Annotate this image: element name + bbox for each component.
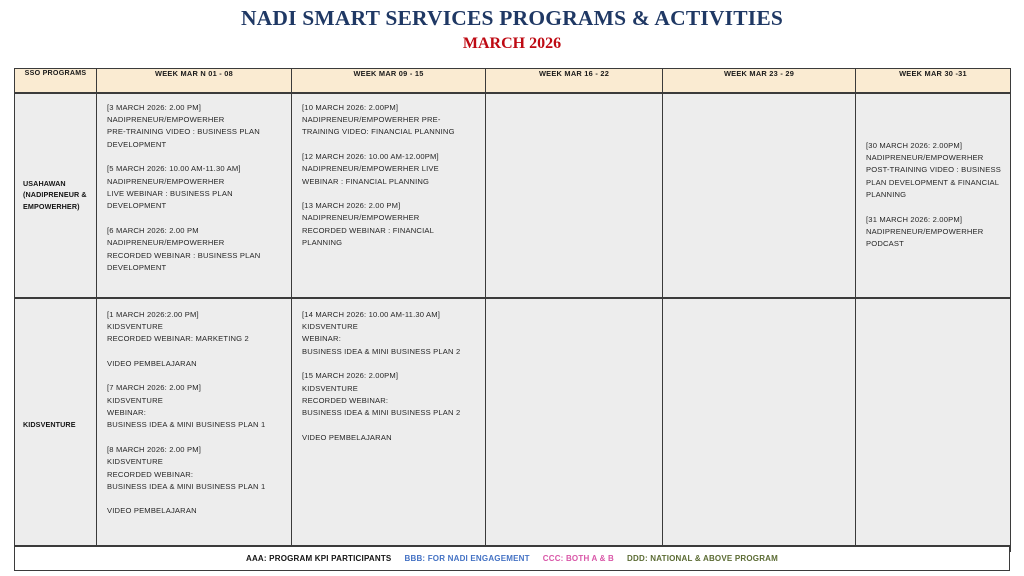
activity-line: WEBINAR : FINANCIAL PLANNING (302, 176, 476, 188)
page-title: NADI SMART SERVICES PROGRAMS & ACTIVITIE… (0, 4, 1024, 32)
activity-line: KIDSVENTURE (107, 321, 282, 333)
activity-line: NADIPRENEUR/EMPOWERHER (866, 226, 1001, 238)
row-label-line: (NADIPRENEUR & (23, 189, 90, 201)
schedule-cell-r1-c1: [3 MARCH 2026: 2.00 PM]NADIPRENEUR/EMPOW… (97, 93, 292, 298)
activity-entry: [10 MARCH 2026: 2.00PM]NADIPRENEUR/EMPOW… (302, 102, 476, 139)
activity-line: KIDSVENTURE (302, 321, 476, 333)
activity-entry: [15 MARCH 2026: 2.00PM]KIDSVENTURERECORD… (302, 370, 476, 420)
cell-content: [14 MARCH 2026: 10.00 AM-11.30 AM]KIDSVE… (292, 299, 485, 453)
activity-line: RECORDED WEBINAR: (302, 395, 476, 407)
activity-line: [13 MARCH 2026: 2.00 PM] (302, 200, 476, 212)
schedule-cell-r1-c5: [30 MARCH 2026: 2.00PM]NADIPRENEUR/EMPOW… (856, 93, 1011, 298)
activity-line: [14 MARCH 2026: 10.00 AM-11.30 AM] (302, 309, 476, 321)
calendar-page: NADI SMART SERVICES PROGRAMS & ACTIVITIE… (0, 0, 1024, 576)
cell-content: [10 MARCH 2026: 2.00PM]NADIPRENEUR/EMPOW… (292, 94, 485, 258)
cell-content (663, 299, 855, 317)
activity-line: [5 MARCH 2026: 10.00 AM-11.30 AM] (107, 163, 282, 175)
activity-line: BUSINESS IDEA & MINI BUSINESS PLAN 2 (302, 407, 476, 419)
activity-line: DEVELOPMENT (107, 200, 282, 212)
activity-line: NADIPRENEUR/EMPOWERHER (107, 176, 282, 188)
cell-content: [1 MARCH 2026:2.00 PM]KIDSVENTURERECORDE… (97, 299, 291, 526)
legend-item-bbb: BBB: FOR NADI ENGAGEMENT (404, 554, 529, 563)
cell-content: [30 MARCH 2026: 2.00PM]NADIPRENEUR/EMPOW… (856, 94, 1010, 259)
activity-entry: VIDEO PEMBELAJARAN (107, 505, 282, 517)
legend-footer: AAA: PROGRAM KPI PARTICIPANTSBBB: FOR NA… (14, 545, 1010, 571)
schedule-cell-r2-c1: [1 MARCH 2026:2.00 PM]KIDSVENTURERECORDE… (97, 298, 292, 552)
schedule-cell-r2-c5 (856, 298, 1011, 552)
activity-line: PLANNING (866, 189, 1001, 201)
schedule-cell-r1-c2: [10 MARCH 2026: 2.00PM]NADIPRENEUR/EMPOW… (292, 93, 486, 298)
cell-content (486, 299, 662, 317)
activity-line: VIDEO PEMBELAJARAN (107, 505, 282, 517)
activity-entry: [31 MARCH 2026: 2.00PM]NADIPRENEUR/EMPOW… (866, 214, 1001, 251)
column-header-week-2: WEEK MAR 09 - 15 (292, 69, 486, 93)
column-header-week-3: WEEK MAR 16 - 22 (486, 69, 663, 93)
row-label-line: USAHAWAN (23, 178, 90, 190)
activity-line: TRAINING VIDEO: FINANCIAL PLANNING (302, 126, 476, 138)
schedule-cell-r1-c4 (663, 93, 856, 298)
activity-line: DEVELOPMENT (107, 139, 282, 151)
activity-line: BUSINESS IDEA & MINI BUSINESS PLAN 1 (107, 481, 282, 493)
activity-line: [3 MARCH 2026: 2.00 PM] (107, 102, 282, 114)
table-header: SSO PROGRAMS WEEK MAR N 01 - 08 WEEK MAR… (15, 69, 1011, 93)
schedule-cell-r2-c3 (486, 298, 663, 552)
row-label-line: KIDSVENTURE (23, 419, 90, 431)
table-row: KIDSVENTURE[1 MARCH 2026:2.00 PM]KIDSVEN… (15, 298, 1011, 552)
activity-entry: VIDEO PEMBELAJARAN (302, 432, 476, 444)
activity-entry: [5 MARCH 2026: 10.00 AM-11.30 AM]NADIPRE… (107, 163, 282, 213)
activity-line: POST-TRAINING VIDEO : BUSINESS (866, 164, 1001, 176)
legend-item-ccc: CCC: BOTH A & B (543, 554, 614, 563)
programs-schedule-table: SSO PROGRAMS WEEK MAR N 01 - 08 WEEK MAR… (14, 68, 1011, 552)
activity-line: [31 MARCH 2026: 2.00PM] (866, 214, 1001, 226)
activity-entry: [7 MARCH 2026: 2.00 PM]KIDSVENTUREWEBINA… (107, 382, 282, 432)
column-header-week-4: WEEK MAR 23 - 29 (663, 69, 856, 93)
activity-entry: [30 MARCH 2026: 2.00PM]NADIPRENEUR/EMPOW… (866, 140, 1001, 202)
activity-line: RECORDED WEBINAR: (107, 469, 282, 481)
activity-entry: [13 MARCH 2026: 2.00 PM]NADIPRENEUR/EMPO… (302, 200, 476, 250)
activity-entry: [14 MARCH 2026: 10.00 AM-11.30 AM]KIDSVE… (302, 309, 476, 359)
cell-content (856, 299, 1010, 317)
activity-entry: [6 MARCH 2026: 2.00 PMNADIPRENEUR/EMPOWE… (107, 225, 282, 275)
activity-line: PRE-TRAINING VIDEO : BUSINESS PLAN (107, 126, 282, 138)
page-subtitle: MARCH 2026 (0, 33, 1024, 55)
activity-line: WEBINAR: (302, 333, 476, 345)
activity-entry: VIDEO PEMBELAJARAN (107, 358, 282, 370)
activity-entry: [3 MARCH 2026: 2.00 PM]NADIPRENEUR/EMPOW… (107, 102, 282, 152)
activity-line: [10 MARCH 2026: 2.00PM] (302, 102, 476, 114)
activity-line: [7 MARCH 2026: 2.00 PM] (107, 382, 282, 394)
activity-line: RECORDED WEBINAR : FINANCIAL (302, 225, 476, 237)
cell-content (486, 94, 662, 110)
activity-line: LIVE WEBINAR : BUSINESS PLAN (107, 188, 282, 200)
column-header-week-1: WEEK MAR N 01 - 08 (97, 69, 292, 93)
row-label-line: EMPOWERHER) (23, 201, 90, 213)
activity-line: DEVELOPMENT (107, 262, 282, 274)
activity-line: PLAN DEVELOPMENT & FINANCIAL (866, 177, 1001, 189)
activity-line: KIDSVENTURE (302, 383, 476, 395)
activity-line: VIDEO PEMBELAJARAN (107, 358, 282, 370)
cell-content: [3 MARCH 2026: 2.00 PM]NADIPRENEUR/EMPOW… (97, 94, 291, 283)
activity-entry: [12 MARCH 2026: 10.00 AM-12.00PM]NADIPRE… (302, 151, 476, 188)
schedule-cell-r2-c2: [14 MARCH 2026: 10.00 AM-11.30 AM]KIDSVE… (292, 298, 486, 552)
activity-line: [6 MARCH 2026: 2.00 PM (107, 225, 282, 237)
legend-item-aaa: AAA: PROGRAM KPI PARTICIPANTS (246, 554, 392, 563)
activity-line: NADIPRENEUR/EMPOWERHER (302, 212, 476, 224)
activity-line: BUSINESS IDEA & MINI BUSINESS PLAN 2 (302, 346, 476, 358)
activity-line: [8 MARCH 2026: 2.00 PM] (107, 444, 282, 456)
title-block: NADI SMART SERVICES PROGRAMS & ACTIVITIE… (0, 4, 1024, 55)
row-label-1: USAHAWAN(NADIPRENEUR &EMPOWERHER) (15, 93, 97, 298)
schedule-cell-r1-c3 (486, 93, 663, 298)
activity-entry: [1 MARCH 2026:2.00 PM]KIDSVENTURERECORDE… (107, 309, 282, 346)
row-label-2: KIDSVENTURE (15, 298, 97, 552)
activity-line: WEBINAR: (107, 407, 282, 419)
activity-line: BUSINESS IDEA & MINI BUSINESS PLAN 1 (107, 419, 282, 431)
column-header-sso-programs: SSO PROGRAMS (15, 69, 97, 93)
activity-entry: [8 MARCH 2026: 2.00 PM]KIDSVENTURERECORD… (107, 444, 282, 494)
activity-line: [1 MARCH 2026:2.00 PM] (107, 309, 282, 321)
activity-line: KIDSVENTURE (107, 395, 282, 407)
activity-line: PLANNING (302, 237, 476, 249)
activity-line: NADIPRENEUR/EMPOWERHER (107, 237, 282, 249)
table-row: USAHAWAN(NADIPRENEUR &EMPOWERHER)[3 MARC… (15, 93, 1011, 298)
table-body: USAHAWAN(NADIPRENEUR &EMPOWERHER)[3 MARC… (15, 93, 1011, 552)
cell-content (663, 94, 855, 110)
activity-line: RECORDED WEBINAR: MARKETING 2 (107, 333, 282, 345)
legend-text: AAA: PROGRAM KPI PARTICIPANTSBBB: FOR NA… (246, 554, 778, 563)
schedule-cell-r2-c4 (663, 298, 856, 552)
activity-line: NADIPRENEUR/EMPOWERHER LIVE (302, 163, 476, 175)
activity-line: PODCAST (866, 238, 1001, 250)
activity-line: RECORDED WEBINAR : BUSINESS PLAN (107, 250, 282, 262)
activity-line: [12 MARCH 2026: 10.00 AM-12.00PM] (302, 151, 476, 163)
activity-line: VIDEO PEMBELAJARAN (302, 432, 476, 444)
activity-line: [15 MARCH 2026: 2.00PM] (302, 370, 476, 382)
activity-line: NADIPRENEUR/EMPOWERHER (107, 114, 282, 126)
activity-line: NADIPRENEUR/EMPOWERHER PRE- (302, 114, 476, 126)
legend-item-ddd: DDD: NATIONAL & ABOVE PROGRAM (627, 554, 778, 563)
activity-line: [30 MARCH 2026: 2.00PM] (866, 140, 1001, 152)
column-header-week-5: WEEK MAR 30 -31 (856, 69, 1011, 93)
table-header-row: SSO PROGRAMS WEEK MAR N 01 - 08 WEEK MAR… (15, 69, 1011, 93)
activity-line: KIDSVENTURE (107, 456, 282, 468)
activity-line: NADIPRENEUR/EMPOWERHER (866, 152, 1001, 164)
